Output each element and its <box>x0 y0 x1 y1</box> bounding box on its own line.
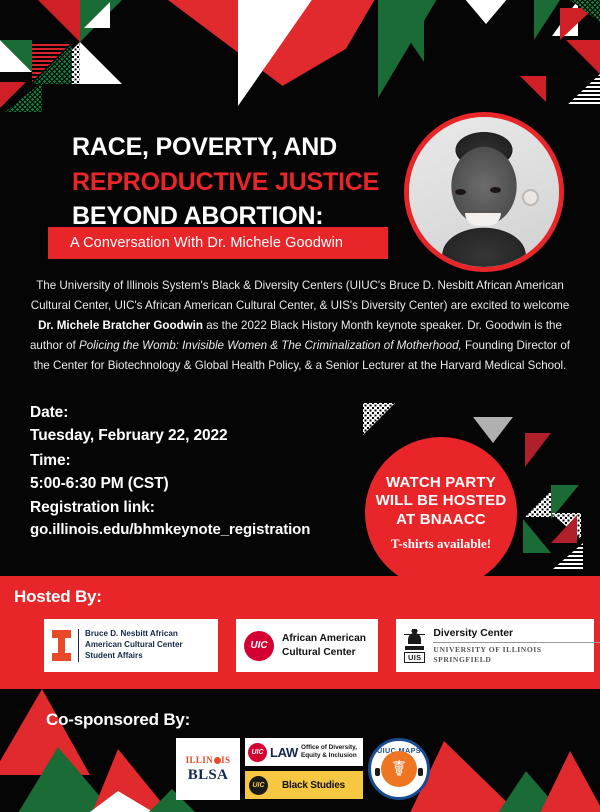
event-description: The University of Illinois System's Blac… <box>28 276 572 376</box>
logo-uic-law: UIC LAW Office of Diversity, Equity & In… <box>245 738 363 766</box>
speaker-name-bold: Dr. Michele Bratcher Goodwin <box>38 319 203 332</box>
uis-badge-text: UIS <box>404 652 425 663</box>
uis-line-1: Diversity Center <box>433 627 600 640</box>
maps-inner-circle: ☤ <box>381 751 417 787</box>
subtitle-text: A Conversation With Dr. Michele Goodwin <box>48 235 343 251</box>
uic-badge-icon: UIC <box>249 776 268 795</box>
deco-triangle-green <box>523 519 551 553</box>
uic-aacc-line-1: African American <box>282 632 366 645</box>
illinois-dot-icon <box>214 757 221 764</box>
deco-triangle-white <box>464 0 508 24</box>
uic-badge-icon: UIC <box>248 743 267 762</box>
deco-triangle-white <box>86 791 158 812</box>
uis-line-2: UNIVERSITY OF ILLINOIS SPRINGFIELD <box>433 645 600 664</box>
blsa-name: BLSA <box>188 767 228 784</box>
deco-triangle-black <box>551 433 577 467</box>
bnaacc-line-3: Student Affairs <box>85 651 183 662</box>
block-i-icon <box>52 630 71 661</box>
top-decorative-band <box>0 0 600 112</box>
deco-triangle-white <box>80 42 122 84</box>
logo-uic-black-studies: UIC Black Studies <box>245 771 363 799</box>
page-title: RACE, POVERTY, AND REPRODUCTIVE JUSTICE … <box>72 130 402 234</box>
deco-triangle-red <box>0 82 26 108</box>
date-value: Tuesday, February 22, 2022 <box>30 424 360 448</box>
logo-illinois-blsa: ILLINIS BLSA <box>176 738 240 800</box>
portrait-eye-left <box>455 189 466 195</box>
deco-dots-white <box>551 513 581 539</box>
capitol-dome-icon <box>404 629 425 650</box>
cosponsored-logo-row: ILLINIS BLSA UIC LAW Office of Diversity… <box>176 738 430 800</box>
badge-subtext: T-shirts available! <box>391 536 491 552</box>
blsa-illinois-text: ILLINIS <box>186 755 231 765</box>
hosted-logo-row: Bruce D. Nesbitt African American Cultur… <box>44 619 594 672</box>
registration-link[interactable]: go.illinois.edu/bhmkeynote_registration <box>30 519 360 542</box>
deco-triangle-red <box>525 433 551 467</box>
black-studies-label: Black Studies <box>268 780 359 791</box>
event-details: Date: Tuesday, February 22, 2022 Time: 5… <box>30 402 360 544</box>
maps-pip-left <box>375 768 380 776</box>
time-label: Time: <box>30 450 360 472</box>
logo-uic-aacc: UIC African American Cultural Center <box>236 619 378 672</box>
bnaacc-line-1: Bruce D. Nesbitt African <box>85 629 183 640</box>
deco-triangle-green <box>378 0 424 62</box>
watch-party-badge: WATCH PARTY WILL BE HOSTED AT BNAACC T-s… <box>365 437 517 589</box>
hosted-by-title: Hosted By: <box>14 587 102 607</box>
event-poster: RACE, POVERTY, AND REPRODUCTIVE JUSTICE … <box>0 0 600 812</box>
uic-logo-stack: UIC LAW Office of Diversity, Equity & In… <box>245 738 363 799</box>
badge-line-1: WATCH PARTY <box>386 474 496 493</box>
deco-triangle-red <box>551 515 577 543</box>
uis-divider <box>433 642 600 643</box>
time-value: 5:00-6:30 PM (CST) <box>30 472 360 496</box>
badge-line-3: AT BNAACC <box>396 511 486 530</box>
registration-label: Registration link: <box>30 497 360 519</box>
blsa-illin: ILLIN <box>186 755 214 765</box>
deco-stripes-white <box>566 74 600 106</box>
logo-uiuc-maps: UIUC MAPS ☤ <box>368 738 430 800</box>
title-line-2: REPRODUCTIVE JUSTICE <box>72 165 402 200</box>
cosponsored-title: Co-sponsored By: <box>46 710 190 730</box>
deco-triangle-white <box>84 2 110 28</box>
logo-uis-text: Diversity Center UNIVERSITY OF ILLINOIS … <box>433 627 600 664</box>
portrait-image <box>409 117 559 267</box>
title-line-1: RACE, POVERTY, AND <box>72 130 402 165</box>
uic-aacc-line-2: Cultural Center <box>282 646 366 659</box>
uic-law-subtitle: Office of Diversity, Equity & Inclusion <box>301 744 357 760</box>
blsa-is: IS <box>221 755 230 765</box>
uic-law-sub-1: Office of Diversity, <box>301 744 357 752</box>
deco-triangle-green <box>0 40 32 72</box>
deco-triangle-red <box>566 40 600 74</box>
deco-triangle-black <box>238 30 378 112</box>
description-part-1: The University of Illinois System's Blac… <box>31 279 570 312</box>
uic-badge-icon: UIC <box>244 631 274 661</box>
badge-line-2: WILL BE HOSTED <box>376 492 507 511</box>
deco-triangle-red <box>38 0 80 42</box>
deco-triangle-red <box>540 751 600 812</box>
deco-triangle-red <box>520 76 546 102</box>
deco-dots-white <box>525 487 555 517</box>
bnaacc-line-2: American Cultural Center <box>85 640 183 651</box>
maps-pip-right <box>418 768 423 776</box>
speaker-portrait <box>404 112 564 272</box>
hosted-by-band: Hosted By: Bruce D. Nesbitt African Amer… <box>0 576 600 689</box>
logo-uic-aacc-text: African American Cultural Center <box>282 632 366 659</box>
logo-bnaacc: Bruce D. Nesbitt African American Cultur… <box>44 619 218 672</box>
deco-triangle-green <box>18 747 114 812</box>
portrait-earring-icon <box>524 191 537 204</box>
uic-law-word: LAW <box>270 745 298 760</box>
deco-stripes-white <box>553 543 583 569</box>
uis-dome-icon: UIS <box>404 629 425 663</box>
subtitle-bar: A Conversation With Dr. Michele Goodwin <box>48 227 388 259</box>
deco-triangle-green <box>498 771 562 812</box>
uic-law-sub-2: Equity & Inclusion <box>301 752 357 760</box>
deco-triangle-red <box>92 749 170 812</box>
logo-uis-diversity: UIS Diversity Center UNIVERSITY OF ILLIN… <box>396 619 594 672</box>
deco-triangle-white <box>473 417 513 443</box>
book-title-italic: Policing the Womb: Invisible Women & The… <box>79 339 462 352</box>
deco-triangle-red <box>0 689 90 775</box>
portrait-eye-right <box>490 187 501 193</box>
deco-triangle-green <box>551 485 579 519</box>
date-label: Date: <box>30 402 360 424</box>
caduceus-icon: ☤ <box>392 758 407 780</box>
logo-bnaacc-text: Bruce D. Nesbitt African American Cultur… <box>78 629 183 661</box>
deco-dots-white <box>363 403 395 435</box>
